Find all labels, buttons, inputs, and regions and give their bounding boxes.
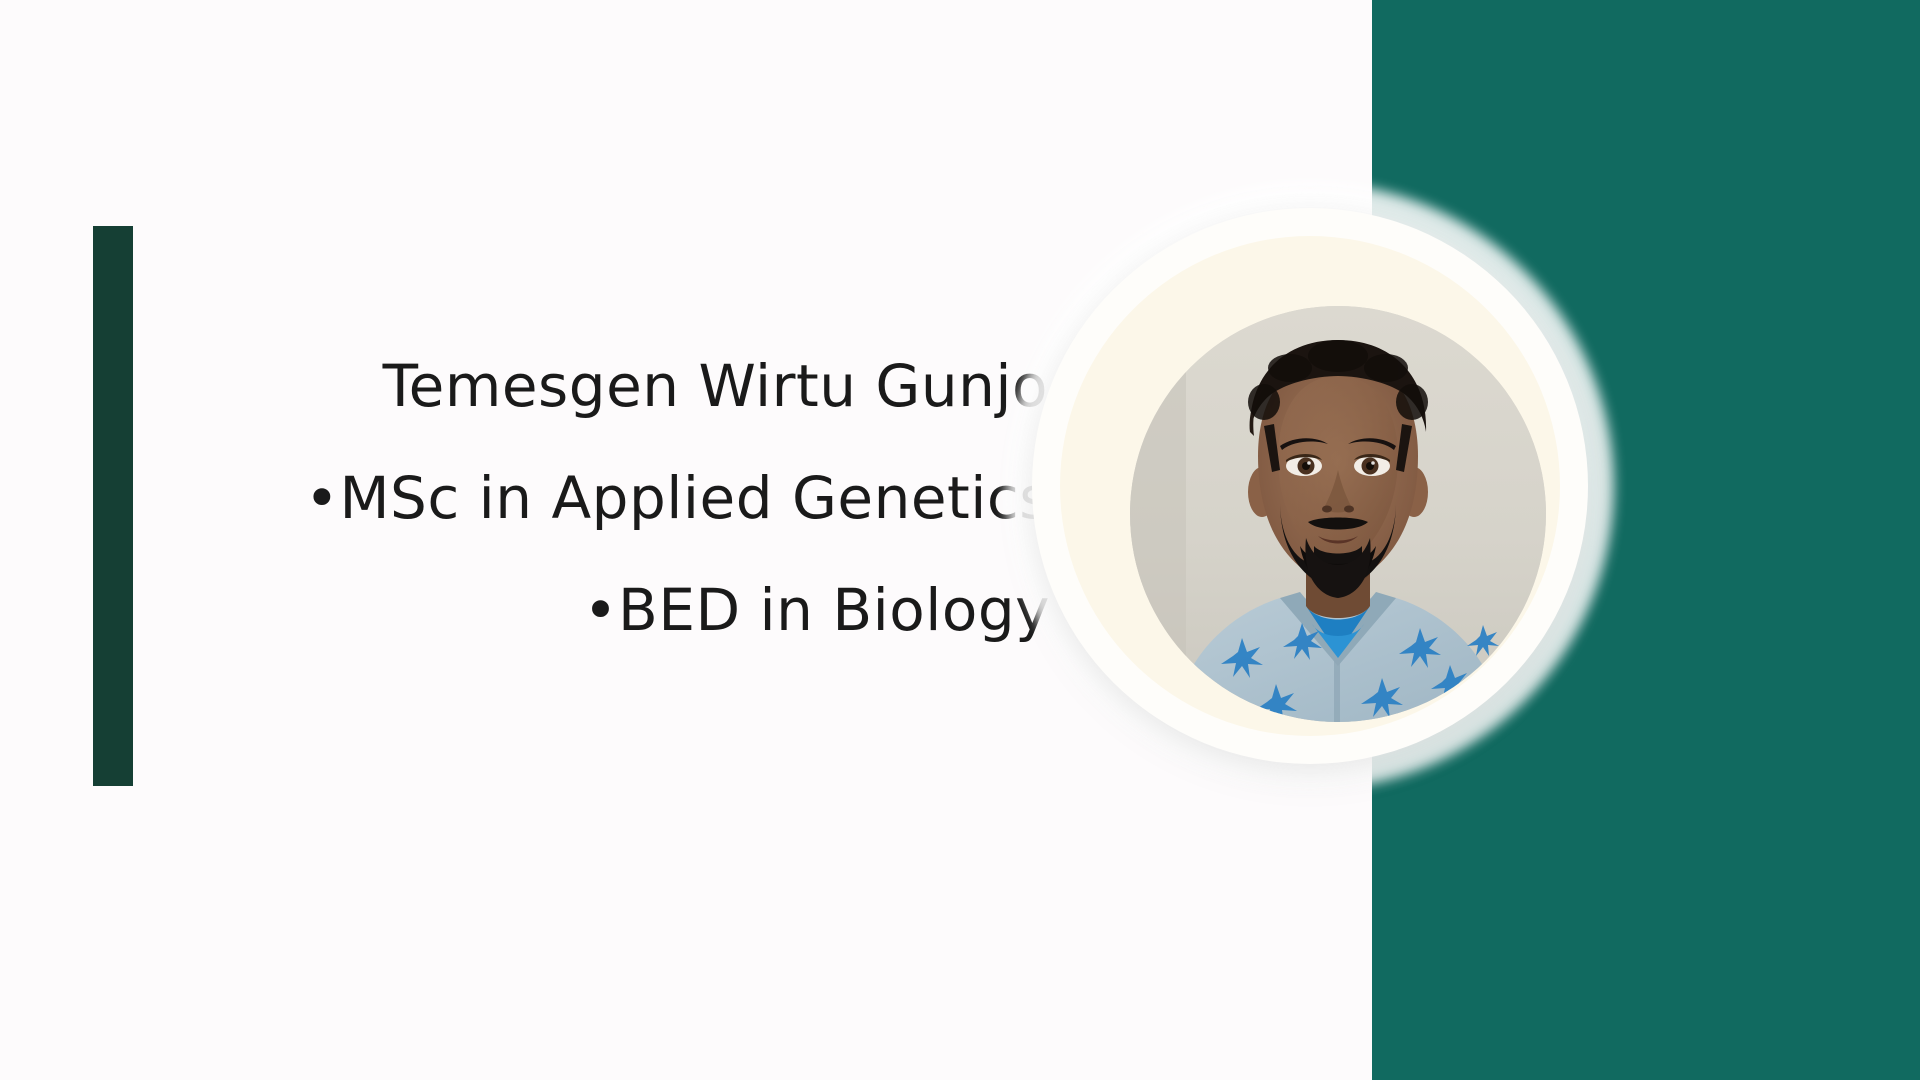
credential-item-msc: •MSc in Applied Genetics (150, 442, 1050, 554)
portrait-frame (1032, 208, 1588, 764)
left-accent-bar (93, 226, 133, 786)
presenter-name: Temesgen Wirtu Gunjo (150, 330, 1050, 442)
presentation-slide: Temesgen Wirtu Gunjo •MSc in Applied Gen… (0, 0, 1920, 1080)
portrait-photo (1130, 306, 1546, 722)
portrait-ring-outer (1032, 208, 1588, 764)
portrait-ring-inner (1060, 236, 1560, 736)
credential-item-bed: •BED in Biology (150, 554, 1050, 666)
text-block: Temesgen Wirtu Gunjo •MSc in Applied Gen… (150, 330, 1050, 666)
